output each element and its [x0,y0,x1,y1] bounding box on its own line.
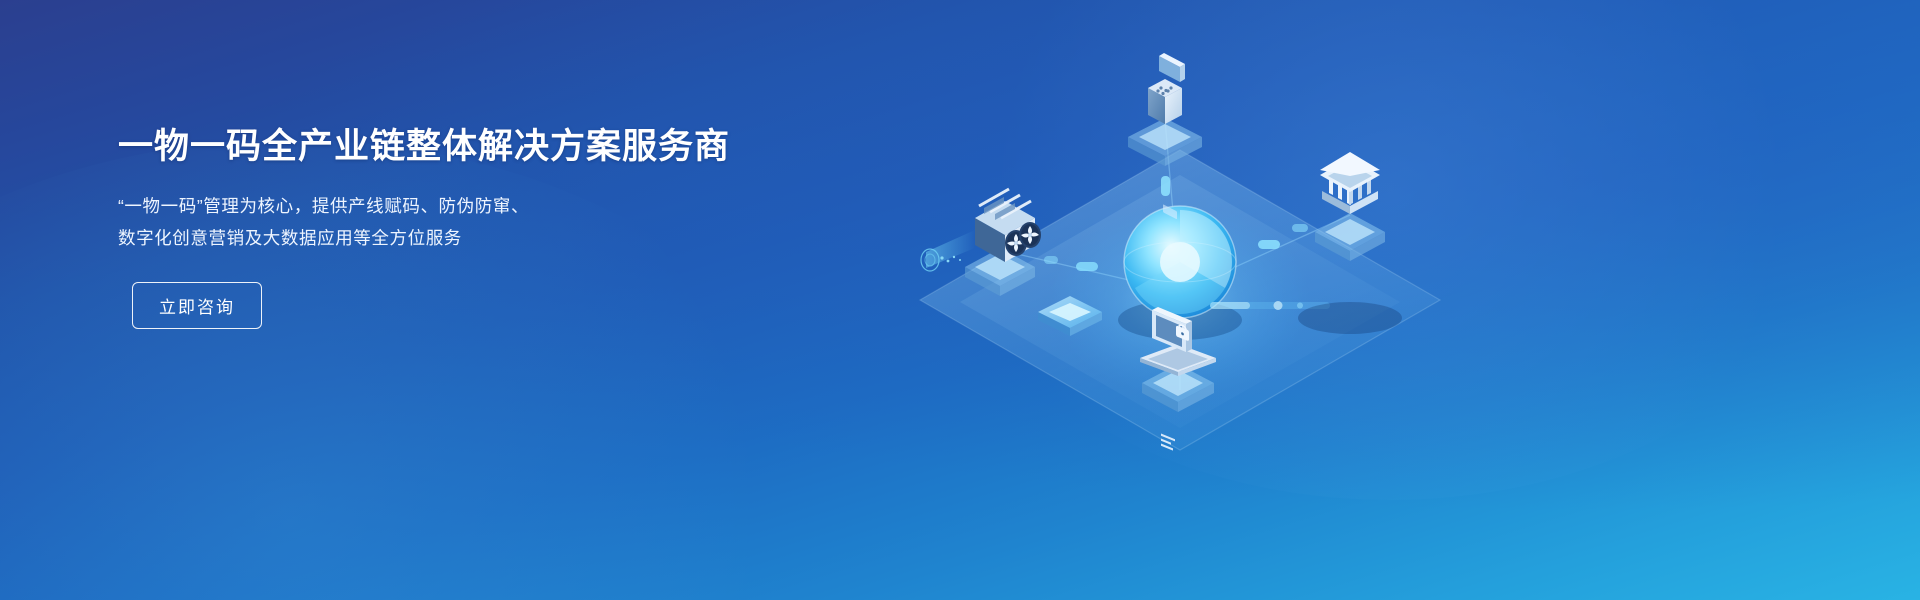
bank-node [1315,152,1385,261]
bank-building-icon [1320,152,1380,214]
reflection-blob [1298,302,1402,334]
scan-beam-icon [921,230,975,271]
subtitle-line-2: 数字化创意营销及大数据应用等全方位服务 [118,222,878,254]
hero-banner: 一物一码全产业链整体解决方案服务商 “一物一码”管理为核心，提供产线赋码、防伪防… [0,0,1920,600]
hero-illustration [880,0,1520,600]
server-node [921,189,1041,296]
fan-icon [1019,222,1041,248]
hero-subtitle: “一物一码”管理为核心，提供产线赋码、防伪防窜、 数字化创意营销及大数据应用等全… [118,190,878,254]
hero-copy: 一物一码全产业链整体解决方案服务商 “一物一码”管理为核心，提供产线赋码、防伪防… [118,126,878,329]
consult-now-button[interactable]: 立即咨询 [132,282,262,329]
page-title: 一物一码全产业链整体解决方案服务商 [118,126,878,168]
subtitle-line-1: “一物一码”管理为核心，提供产线赋码、防伪防窜、 [118,190,878,222]
